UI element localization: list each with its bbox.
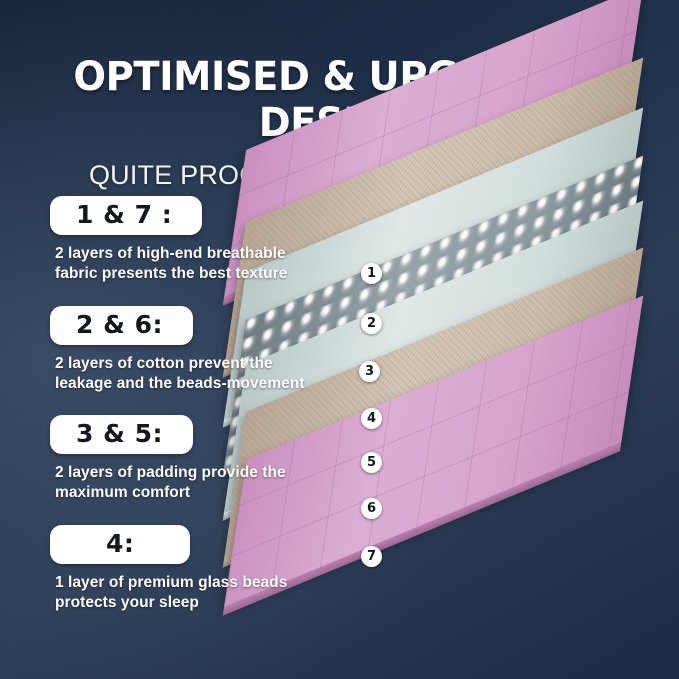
callout-item-1: 1 & 7 : 2 layers of high-end breathable …	[50, 196, 350, 285]
callout-description-3: 2 layers of padding provide the maximum …	[55, 463, 307, 503]
callout-description-2: 2 layers of cotton prevent the leakage a…	[55, 354, 307, 394]
callout-pill-3: 3 & 5:	[50, 415, 193, 454]
callout-description-1: 2 layers of high-end breathable fabric p…	[55, 244, 307, 284]
callout-item-4: 4: 1 layer of premium glass beads protec…	[50, 525, 350, 614]
layer-badge-1: 1	[361, 263, 382, 284]
callout-pill-4: 4:	[50, 525, 190, 564]
layer-badge-6: 6	[361, 498, 382, 519]
layer-badge-2: 2	[361, 313, 382, 334]
callout-label-1: 1 & 7 :	[76, 200, 172, 229]
callout-item-2: 2 & 6: 2 layers of cotton prevent the le…	[50, 306, 350, 395]
layer-badge-5: 5	[361, 452, 382, 473]
callout-label-4: 4:	[106, 529, 134, 558]
callout-list: 1 & 7 : 2 layers of high-end breathable …	[50, 196, 350, 634]
layer-badge-7: 7	[361, 546, 382, 567]
layer-badge-3: 3	[359, 361, 380, 382]
layer-badge-4: 4	[361, 408, 382, 429]
callout-label-3: 3 & 5:	[76, 419, 163, 448]
callout-description-4: 1 layer of premium glass beads protects …	[55, 573, 307, 613]
callout-item-3: 3 & 5: 2 layers of padding provide the m…	[50, 415, 350, 504]
product-infographic: OPTIMISED & UPGRADED DESIGN QUITE PROCES…	[0, 0, 679, 679]
callout-pill-1: 1 & 7 :	[50, 196, 202, 235]
callout-pill-2: 2 & 6:	[50, 306, 193, 345]
callout-label-2: 2 & 6:	[76, 310, 163, 339]
